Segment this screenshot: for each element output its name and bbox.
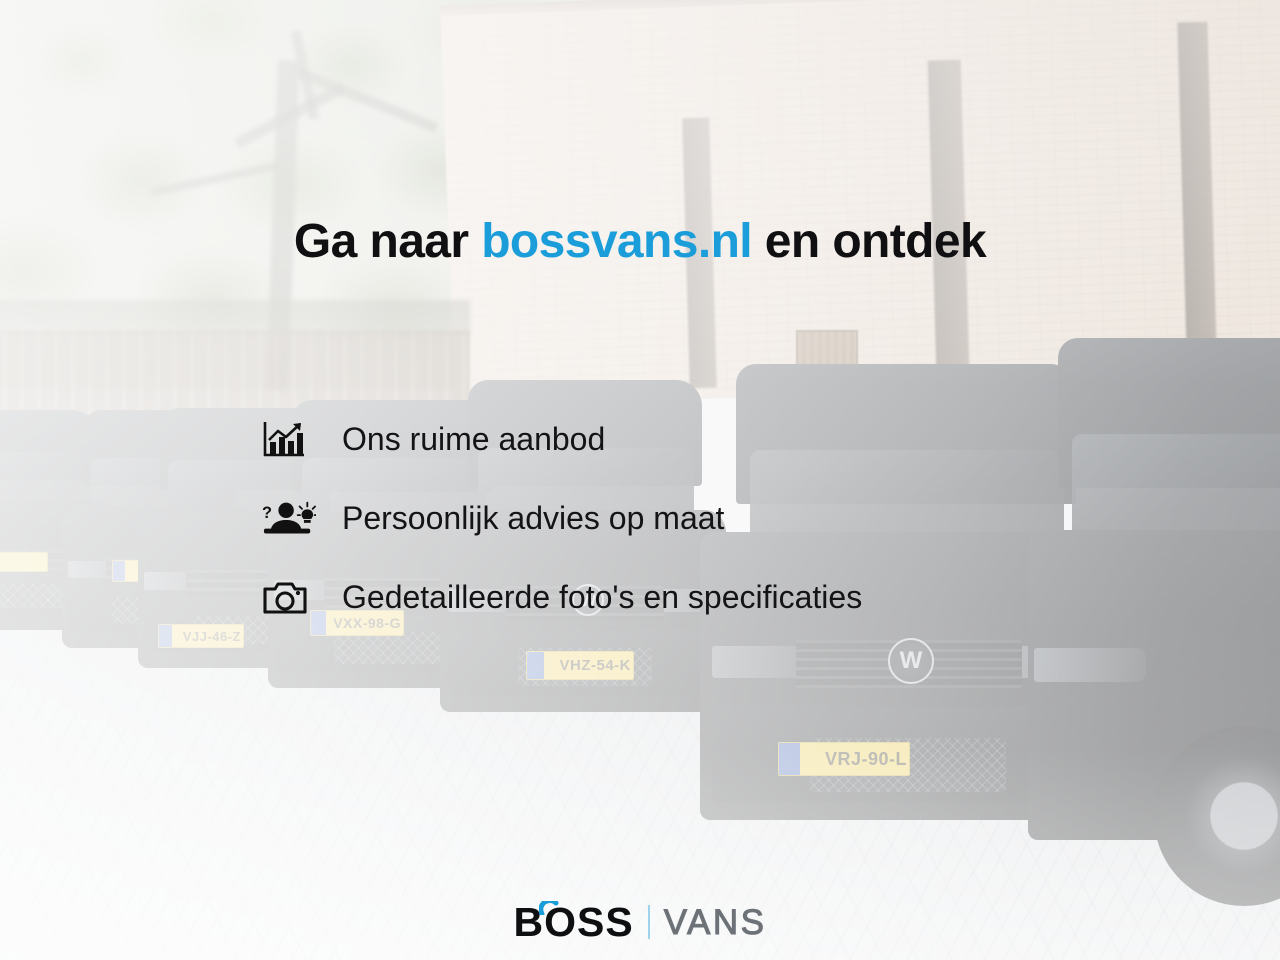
person-advice-icon: ? bbox=[258, 496, 316, 542]
list-item: Ons ruime aanbod bbox=[258, 416, 862, 464]
headline-prefix: Ga naar bbox=[294, 215, 481, 268]
page-title: Ga naar bossvans.nl en ontdek bbox=[0, 214, 1280, 271]
headline-suffix: en ontdek bbox=[752, 215, 986, 268]
brand-link[interactable]: bossvans.nl bbox=[481, 215, 752, 268]
list-item-label: Persoonlijk advies op maat bbox=[316, 501, 724, 536]
list-item: Gedetailleerde foto's en specificaties bbox=[258, 574, 862, 622]
svg-text:?: ? bbox=[262, 504, 272, 522]
camera-icon bbox=[258, 575, 316, 621]
logo-blue-arc-icon bbox=[539, 901, 559, 915]
list-item: ? Persoonlijk advies op maat bbox=[258, 495, 862, 543]
list-item-label: Gedetailleerde foto's en specificaties bbox=[316, 580, 862, 615]
list-item-label: Ons ruime aanbod bbox=[316, 422, 605, 457]
feature-list: Ons ruime aanbod ? Persoonlijk adv bbox=[258, 416, 862, 622]
banner-content: Ga naar bossvans.nl en ontdek bbox=[0, 0, 1280, 960]
logo-boss-letters: BOSS bbox=[514, 899, 634, 945]
promo-banner: VJJ-46-Z VXX-98-G W VHZ-54-K bbox=[0, 0, 1280, 960]
logo-vans-text: VANS bbox=[664, 905, 767, 940]
bar-chart-growth-icon bbox=[258, 417, 316, 463]
boss-vans-logo: BOSS VANS bbox=[0, 898, 1280, 946]
logo-boss-text: BOSS bbox=[514, 902, 634, 943]
logo-divider bbox=[648, 905, 650, 939]
